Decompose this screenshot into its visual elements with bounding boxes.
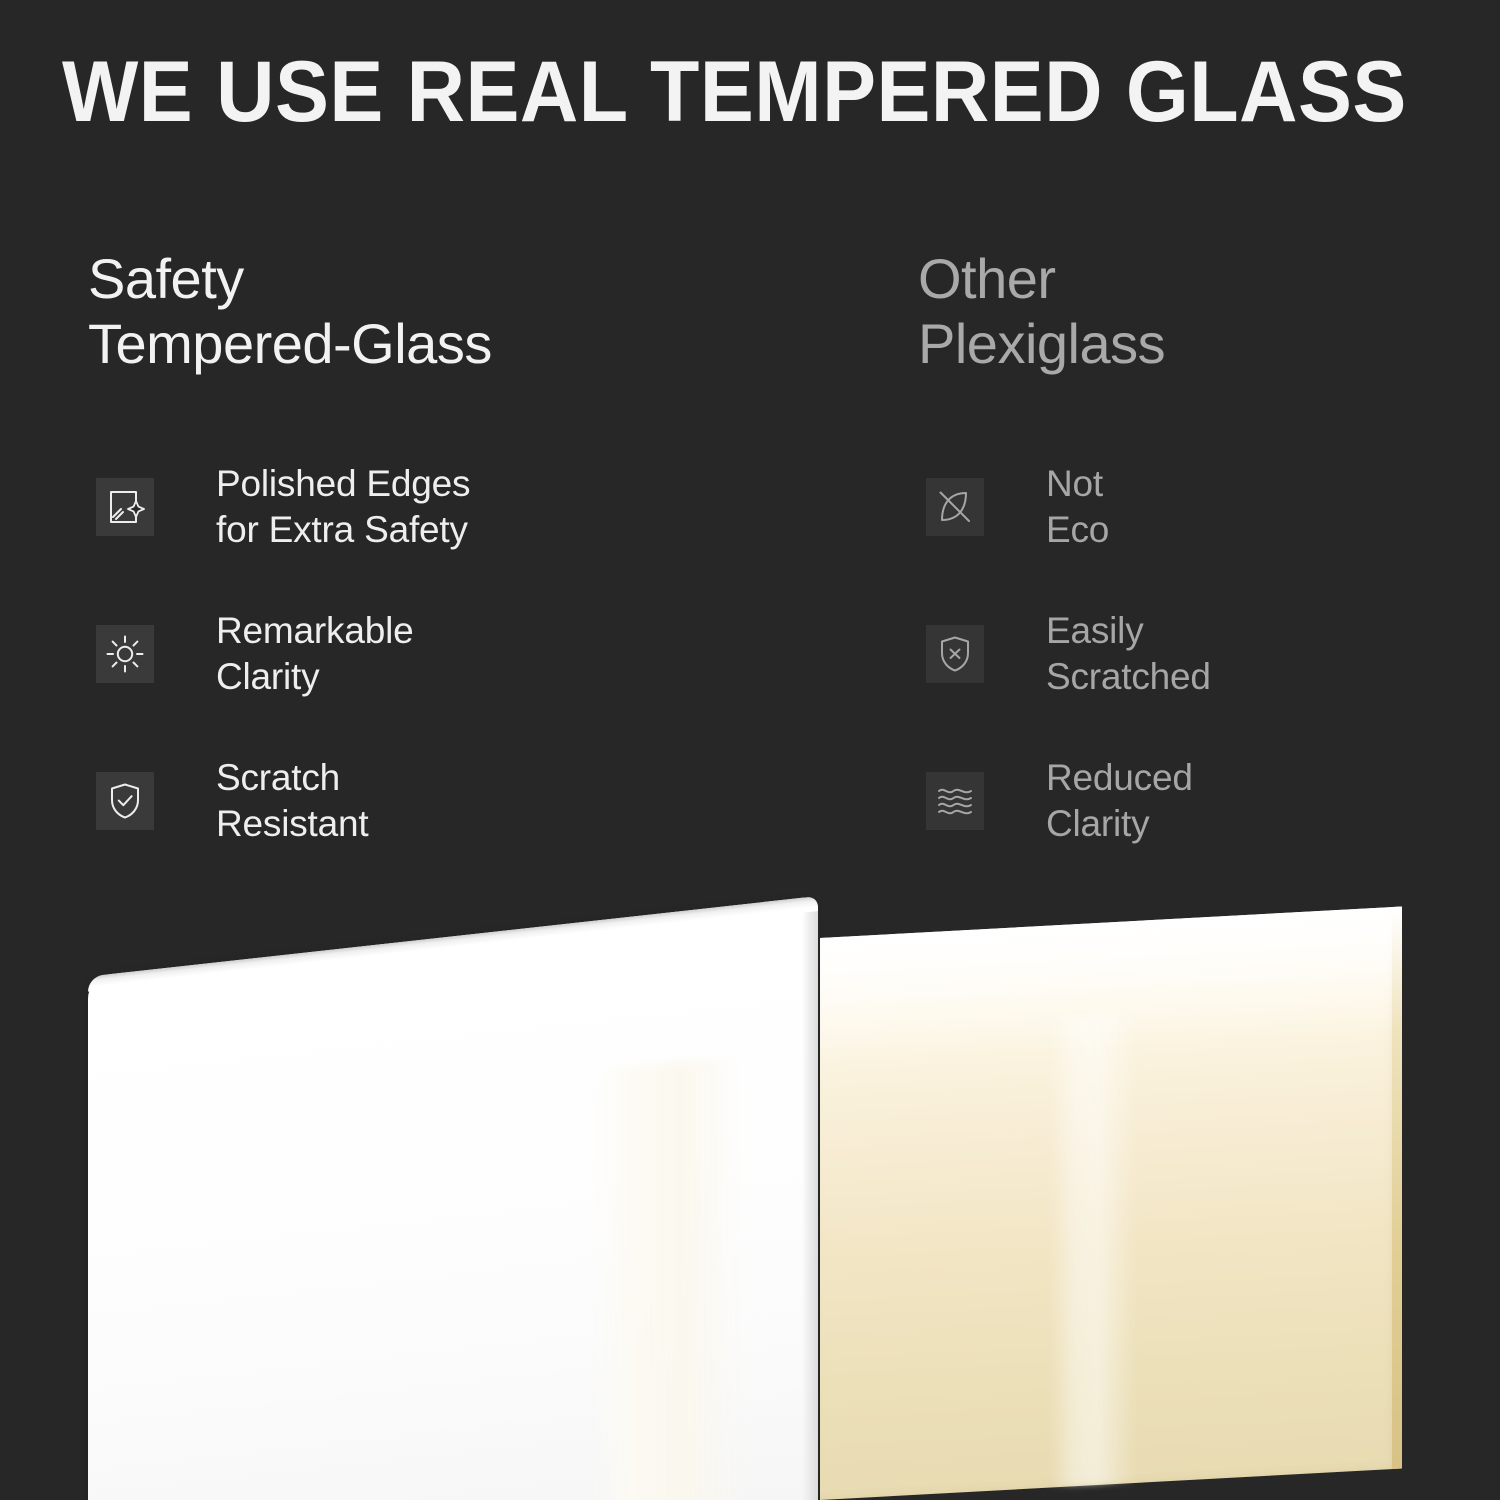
polished-glass-sparkle-icon: [96, 478, 154, 536]
feature-row-reduced-clarity: Reduced Clarity: [926, 755, 1486, 847]
shield-x-icon: [926, 625, 984, 683]
comparison-infographic: WE USE REAL TEMPERED GLASS Safety Temper…: [0, 0, 1500, 1500]
plexiglass-right-edge: [1392, 906, 1402, 1469]
feature-label: Polished Edges for Extra Safety: [216, 461, 470, 553]
tempered-glass-panel-white: [88, 896, 818, 1500]
feature-label: Easily Scratched: [1046, 608, 1211, 700]
plexiglass-panel-yellowed: [820, 906, 1402, 1500]
sun-brightness-icon: [96, 625, 154, 683]
feature-list-right: Not Eco Easily Scratched: [926, 461, 1486, 902]
feature-row-easily-scratched: Easily Scratched: [926, 608, 1486, 700]
feature-list-left: Polished Edges for Extra Safety Remarkab…: [96, 461, 856, 902]
leaf-crossed-out-icon: [926, 478, 984, 536]
glass-polished-right-edge: [802, 896, 818, 1500]
feature-label: Reduced Clarity: [1046, 755, 1193, 847]
shield-check-icon: [96, 772, 154, 830]
wavy-lines-blur-icon: [926, 772, 984, 830]
feature-row-not-eco: Not Eco: [926, 461, 1486, 553]
feature-row-scratch-resistant: Scratch Resistant: [96, 755, 856, 847]
feature-row-polished-edges: Polished Edges for Extra Safety: [96, 461, 856, 553]
column-other-plexiglass: Other Plexiglass Not Eco: [918, 246, 1478, 376]
plexiglass-reflection-streak: [1050, 1013, 1136, 1488]
product-photo: [0, 860, 1500, 1500]
column-heading-left: Safety Tempered-Glass: [88, 246, 848, 376]
feature-label: Remarkable Clarity: [216, 608, 413, 700]
feature-label: Not Eco: [1046, 461, 1109, 553]
glass-polished-top-bevel: [88, 896, 818, 992]
column-safety-tempered-glass: Safety Tempered-Glass Polished Edges for…: [88, 246, 848, 376]
glass-reflection-streak: [593, 1054, 743, 1500]
feature-row-remarkable-clarity: Remarkable Clarity: [96, 608, 856, 700]
page-title: WE USE REAL TEMPERED GLASS: [62, 42, 1378, 142]
column-heading-right: Other Plexiglass: [918, 246, 1478, 376]
feature-label: Scratch Resistant: [216, 755, 368, 847]
